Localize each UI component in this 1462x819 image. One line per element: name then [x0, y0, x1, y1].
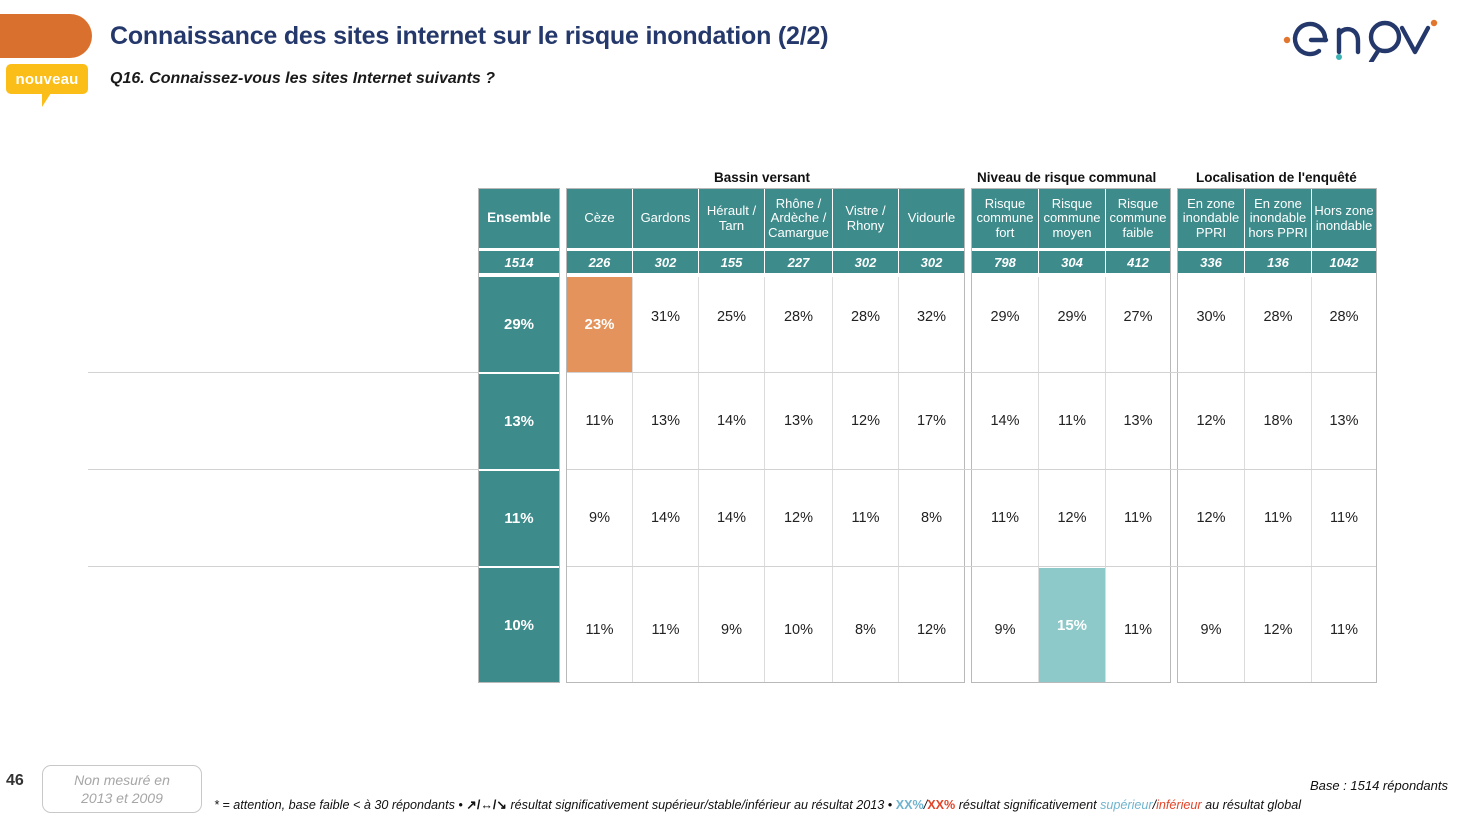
- legend-text-3: résultat significativement: [955, 798, 1100, 812]
- legend-text-1: * = attention, base faible < à 30 répond…: [214, 798, 466, 812]
- legend-note: * = attention, base faible < à 30 répond…: [214, 797, 1301, 812]
- row-divider-2: [88, 566, 479, 567]
- new-badge: nouveau: [6, 64, 88, 94]
- cell-r2-c10: 11%: [1245, 504, 1311, 532]
- legend-word-superieur: supérieur: [1100, 798, 1153, 812]
- legend-text-2: résultat significativement supérieur/sta…: [507, 798, 896, 812]
- cell-r3-c2: 9%: [699, 616, 764, 644]
- cell-r2-c9: 12%: [1178, 504, 1244, 532]
- row-divider-1: [88, 469, 479, 470]
- bases-separator-niveau: [972, 273, 1170, 277]
- cell-r3-c5: 12%: [899, 616, 964, 644]
- column-header-5: Vidourle: [899, 189, 964, 248]
- cell-r1-c5: 17%: [899, 407, 964, 435]
- cell-r1-c7: 11%: [1039, 407, 1105, 435]
- column-header-4: Vistre / Rhony: [833, 189, 898, 248]
- ensemble-row-sep-2: [479, 566, 559, 568]
- cell-r0-c7: 29%: [1039, 303, 1105, 331]
- cell-r3-c6: 9%: [972, 616, 1038, 644]
- not-measured-line2: 2013 et 2009: [81, 789, 163, 807]
- base-3: 227: [765, 251, 832, 273]
- base-7: 304: [1039, 251, 1105, 273]
- base-11: 1042: [1312, 251, 1376, 273]
- enov-logo: [1282, 10, 1450, 62]
- row-divider-0b: [567, 372, 1376, 373]
- cell-r2-c11: 11%: [1312, 504, 1376, 532]
- cell-r2-c7: 12%: [1039, 504, 1105, 532]
- base-respondents: Base : 1514 répondants: [1310, 778, 1448, 793]
- cell-r1-c1: 13%: [633, 407, 698, 435]
- group-caption-localisation: Localisation de l'enquêté: [1196, 170, 1357, 185]
- base-2: 155: [699, 251, 764, 273]
- ensemble-row-sep-1: [479, 469, 559, 471]
- row-divider-2b: [567, 566, 1376, 567]
- new-badge-tail: [42, 93, 60, 107]
- base-1: 302: [633, 251, 698, 273]
- column-header-2: Hérault / Tarn: [699, 189, 764, 248]
- cell-r0-c10: 28%: [1245, 303, 1311, 331]
- column-header-9: En zone inondable PPRI: [1178, 189, 1244, 248]
- base-4: 302: [833, 251, 898, 273]
- ensemble-row-sep-0: [479, 372, 559, 374]
- cell-r1-c4: 12%: [833, 407, 898, 435]
- base-9: 336: [1178, 251, 1244, 273]
- column-header-0: Cèze: [567, 189, 632, 248]
- column-header-ensemble: Ensemble: [479, 189, 559, 248]
- cell-r0-c1: 31%: [633, 303, 698, 331]
- cell-r0-c0: 23%: [567, 277, 632, 372]
- group-caption-bassin-versant: Bassin versant: [714, 170, 810, 185]
- ensemble-value-2: 11%: [479, 471, 559, 566]
- base-ensemble: 1514: [479, 251, 559, 273]
- cell-r1-c6: 14%: [972, 407, 1038, 435]
- cell-r3-c3: 10%: [765, 616, 832, 644]
- cell-r2-c8: 11%: [1106, 504, 1170, 532]
- legend-word-inferieur: inférieur: [1156, 798, 1202, 812]
- cell-r2-c6: 11%: [972, 504, 1038, 532]
- column-header-11: Hors zone inondable: [1312, 189, 1376, 248]
- cell-r3-c10: 12%: [1245, 616, 1311, 644]
- cell-r1-c10: 18%: [1245, 407, 1311, 435]
- ensemble-value-3: 10%: [479, 568, 559, 682]
- cell-r3-c8: 11%: [1106, 616, 1170, 644]
- cell-r2-c0: 9%: [567, 504, 632, 532]
- cell-r0-c8: 27%: [1106, 303, 1170, 331]
- cell-r1-c9: 12%: [1178, 407, 1244, 435]
- cell-r3-c4: 8%: [833, 616, 898, 644]
- legend-xx-inferior: XX%: [927, 798, 955, 812]
- group-caption-niveau-risque: Niveau de risque communal: [977, 170, 1156, 185]
- cell-r2-c5: 8%: [899, 504, 964, 532]
- base-0: 226: [567, 251, 632, 273]
- cell-r0-c11: 28%: [1312, 303, 1376, 331]
- cell-r0-c2: 25%: [699, 303, 764, 331]
- column-header-10: En zone inondable hors PPRI: [1245, 189, 1311, 248]
- cell-r3-c7: 15%: [1039, 568, 1105, 682]
- legend-xx-superior: XX%: [896, 798, 924, 812]
- cell-r1-c0: 11%: [567, 407, 632, 435]
- column-header-3: Rhône / Ardèche / Camargue: [765, 189, 832, 248]
- base-10: 136: [1245, 251, 1311, 273]
- cell-r1-c2: 14%: [699, 407, 764, 435]
- column-header-6: Risque commune fort: [972, 189, 1038, 248]
- base-8: 412: [1106, 251, 1170, 273]
- not-measured-note: Non mesuré en 2013 et 2009: [42, 765, 202, 813]
- cell-r0-c4: 28%: [833, 303, 898, 331]
- base-6: 798: [972, 251, 1038, 273]
- ensemble-value-0: 29%: [479, 277, 559, 372]
- cell-r0-c9: 30%: [1178, 303, 1244, 331]
- cell-r2-c4: 11%: [833, 504, 898, 532]
- cell-r1-c11: 13%: [1312, 407, 1376, 435]
- cell-r0-c5: 32%: [899, 303, 964, 331]
- cell-r2-c3: 12%: [765, 504, 832, 532]
- page-title: Connaissance des sites internet sur le r…: [110, 22, 828, 51]
- header-orange-tab: [0, 14, 92, 58]
- cell-r3-c9: 9%: [1178, 616, 1244, 644]
- row-divider-1b: [567, 469, 1376, 470]
- cell-r2-c2: 14%: [699, 504, 764, 532]
- legend-arrows-icon: ↗/↔/↘: [466, 798, 507, 812]
- ensemble-value-1: 13%: [479, 374, 559, 469]
- cell-r1-c8: 13%: [1106, 407, 1170, 435]
- page-subtitle: Q16. Connaissez-vous les sites Internet …: [110, 70, 495, 88]
- cell-r0-c3: 28%: [765, 303, 832, 331]
- cell-r3-c1: 11%: [633, 616, 698, 644]
- cell-r3-c0: 11%: [567, 616, 632, 644]
- cell-r1-c3: 13%: [765, 407, 832, 435]
- not-measured-line1: Non mesuré en: [74, 771, 170, 789]
- row-divider-0: [88, 372, 479, 373]
- cell-r2-c1: 14%: [633, 504, 698, 532]
- column-header-1: Gardons: [633, 189, 698, 248]
- bases-separator-localisation: [1178, 273, 1376, 277]
- page-number: 46: [6, 772, 24, 790]
- column-header-7: Risque commune moyen: [1039, 189, 1105, 248]
- cell-r3-c11: 11%: [1312, 616, 1376, 644]
- legend-text-4: au résultat global: [1202, 798, 1301, 812]
- cell-r0-c6: 29%: [972, 303, 1038, 331]
- column-header-8: Risque commune faible: [1106, 189, 1170, 248]
- base-5: 302: [899, 251, 964, 273]
